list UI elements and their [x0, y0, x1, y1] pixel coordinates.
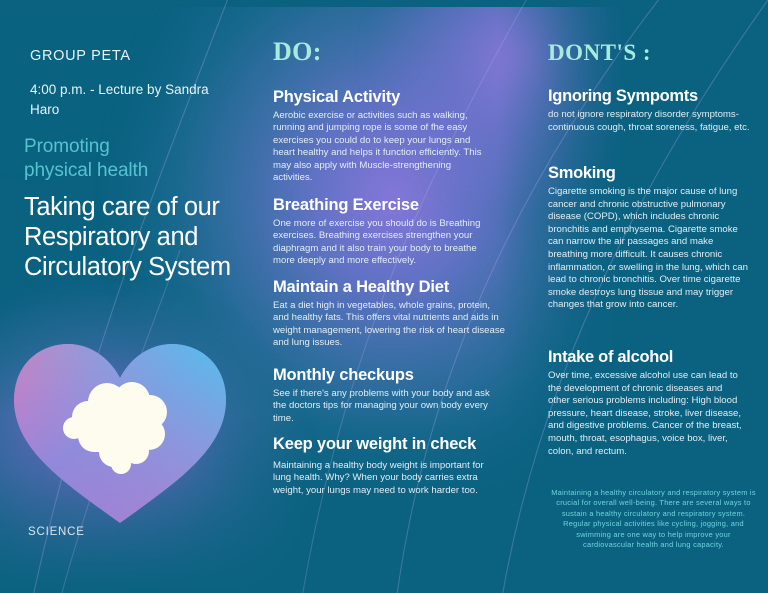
section-body: One more of exercise you should do is Br…	[273, 218, 493, 268]
section-title: Intake of alcohol	[548, 347, 744, 367]
do-section-keep-weight-in-check: Keep your weight in check Maintaining a …	[273, 432, 495, 497]
section-title: Physical Activity	[273, 87, 493, 107]
section-title: Smoking	[548, 163, 748, 183]
lecture-info: 4:00 p.m. - Lecture by Sandra Haro	[30, 80, 240, 120]
do-section-healthy-diet: Maintain a Healthy Diet Eat a diet high …	[273, 277, 505, 350]
group-label: GROUP PETA	[30, 48, 131, 64]
section-body: Aerobic exercise or activities such as w…	[273, 110, 493, 184]
do-column-heading: DO:	[273, 37, 322, 67]
section-title: Breathing Exercise	[273, 195, 493, 215]
section-body: Maintaining a healthy body weight is imp…	[273, 460, 495, 497]
poster-page: GROUP PETA 4:00 p.m. - Lecture by Sandra…	[0, 0, 768, 593]
dont-column-heading: DONT'S :	[548, 40, 651, 66]
subtitle: Promoting physical health	[24, 135, 148, 183]
subtitle-line-2: physical health	[24, 159, 148, 183]
dont-section-ignoring-symptoms: Ignoring Sympomts do not ignore respirat…	[548, 86, 758, 134]
heart-with-brain-illustration	[8, 338, 232, 528]
section-body: do not ignore respiratory disorder sympt…	[548, 109, 758, 134]
science-label: SCIENCE	[28, 526, 85, 538]
footer-summary-note: Maintaining a healthy circulatory and re…	[551, 488, 756, 550]
dont-column: DONT'S : Ignoring Sympomts do not ignore…	[537, 0, 768, 593]
section-title: Ignoring Sympomts	[548, 86, 758, 106]
section-body: Over time, excessive alcohol use can lea…	[548, 370, 744, 458]
section-body: See if there's any problems with your bo…	[273, 388, 493, 425]
page-title: Taking care of our Respiratory and Circu…	[24, 192, 264, 282]
section-title: Keep your weight in check	[273, 432, 495, 457]
heart-brain-svg	[8, 338, 232, 528]
dont-section-intake-of-alcohol: Intake of alcohol Over time, excessive a…	[548, 347, 744, 458]
do-column: DO: Physical Activity Aerobic exercise o…	[265, 0, 537, 593]
subtitle-line-1: Promoting	[24, 135, 148, 159]
section-body: Cigarette smoking is the major cause of …	[548, 186, 748, 312]
do-section-breathing-exercise: Breathing Exercise One more of exercise …	[273, 195, 493, 268]
section-title: Monthly checkups	[273, 365, 493, 385]
section-title: Maintain a Healthy Diet	[273, 277, 505, 297]
dont-section-smoking: Smoking Cigarette smoking is the major c…	[548, 163, 748, 312]
do-section-monthly-checkups: Monthly checkups See if there's any prob…	[273, 365, 493, 425]
do-section-physical-activity: Physical Activity Aerobic exercise or ac…	[273, 87, 493, 184]
left-column: GROUP PETA 4:00 p.m. - Lecture by Sandra…	[0, 0, 265, 593]
section-body: Eat a diet high in vegetables, whole gra…	[273, 300, 505, 350]
